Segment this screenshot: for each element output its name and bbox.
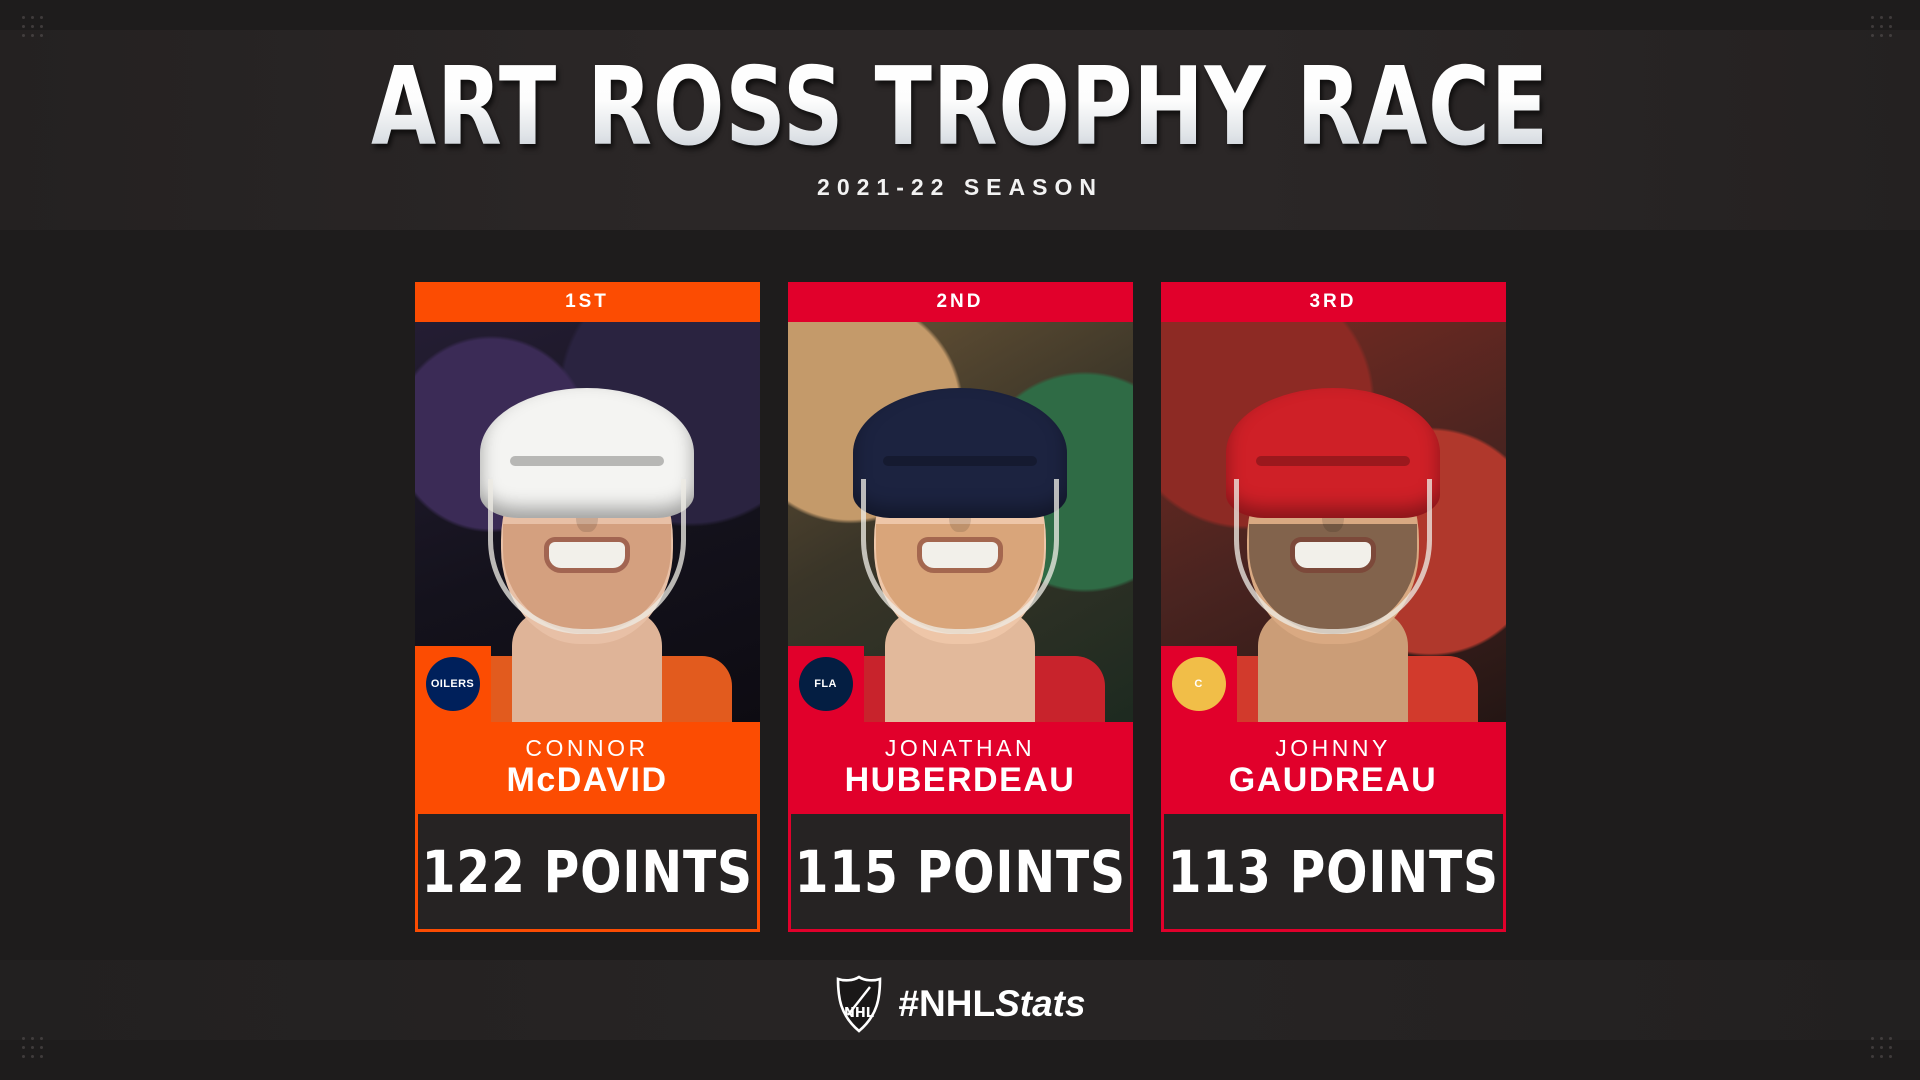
player-last-name: HUBERDEAU xyxy=(845,761,1076,800)
player-photo-3: C xyxy=(1161,322,1506,722)
leaderboard-cards: 1ST OILERS xyxy=(0,282,1920,932)
points-value: 122 POINTS xyxy=(421,838,752,906)
rank-label: 2ND xyxy=(936,291,983,313)
team-logo-badge-2: FLA xyxy=(788,646,864,722)
rank-banner-1: 1ST xyxy=(415,282,760,322)
player-nameplate-3: JOHNNY GAUDREAU xyxy=(1161,722,1506,814)
dot-grid-top-right xyxy=(1871,16,1898,43)
chin-strap xyxy=(861,479,1059,634)
team-logo-icon: OILERS xyxy=(426,657,480,711)
player-portrait xyxy=(1203,338,1463,722)
player-first-name: CONNOR xyxy=(525,736,648,761)
team-logo-icon: C xyxy=(1172,657,1226,711)
rank-label: 3RD xyxy=(1309,291,1356,313)
player-photo-2: FLA xyxy=(788,322,1133,722)
chin-strap xyxy=(1234,479,1432,634)
team-abbrev: FLA xyxy=(814,679,837,690)
player-card-3[interactable]: 3RD C xyxy=(1161,282,1506,932)
points-box-3: 113 POINTS xyxy=(1161,814,1506,932)
nhlstats-hashtag: #NHLStats xyxy=(898,983,1085,1025)
hashtag-prefix: #NHL xyxy=(898,983,995,1024)
points-box-2: 115 POINTS xyxy=(788,814,1133,932)
team-logo-badge-3: C xyxy=(1161,646,1237,722)
player-portrait xyxy=(830,338,1090,722)
dot-grid-bottom-right xyxy=(1871,1037,1898,1064)
dot-grid-top-left xyxy=(22,16,49,43)
team-logo-badge-1: OILERS xyxy=(415,646,491,722)
svg-text:NHL: NHL xyxy=(844,1006,874,1021)
points-value: 115 POINTS xyxy=(794,838,1125,906)
team-logo-icon: FLA xyxy=(799,657,853,711)
hashtag-suffix: Stats xyxy=(995,983,1085,1024)
nhl-shield-icon: NHL xyxy=(834,975,884,1033)
page-subtitle: 2021-22 SEASON xyxy=(0,174,1920,201)
points-value: 113 POINTS xyxy=(1167,838,1498,906)
player-card-1[interactable]: 1ST OILERS xyxy=(415,282,760,932)
player-last-name: McDAVID xyxy=(507,761,668,800)
player-nameplate-2: JONATHAN HUBERDEAU xyxy=(788,722,1133,814)
rank-banner-2: 2ND xyxy=(788,282,1133,322)
player-nameplate-1: CONNOR McDAVID xyxy=(415,722,760,814)
player-last-name: GAUDREAU xyxy=(1229,761,1437,800)
team-abbrev: C xyxy=(1194,679,1202,690)
footer: NHL #NHLStats xyxy=(0,975,1920,1033)
player-card-2[interactable]: 2ND FLA xyxy=(788,282,1133,932)
team-abbrev: OILERS xyxy=(431,679,474,690)
player-portrait xyxy=(457,338,717,722)
player-first-name: JONATHAN xyxy=(885,736,1035,761)
player-first-name: JOHNNY xyxy=(1275,736,1391,761)
graphic-header: ART ROSS TROPHY RACE 2021-22 SEASON xyxy=(0,58,1920,201)
points-box-1: 122 POINTS xyxy=(415,814,760,932)
page-title: ART ROSS TROPHY RACE xyxy=(211,58,1709,158)
rank-label: 1ST xyxy=(565,291,609,313)
rank-banner-3: 3RD xyxy=(1161,282,1506,322)
chin-strap xyxy=(488,479,686,634)
player-photo-1: OILERS xyxy=(415,322,760,722)
dot-grid-bottom-left xyxy=(22,1037,49,1064)
